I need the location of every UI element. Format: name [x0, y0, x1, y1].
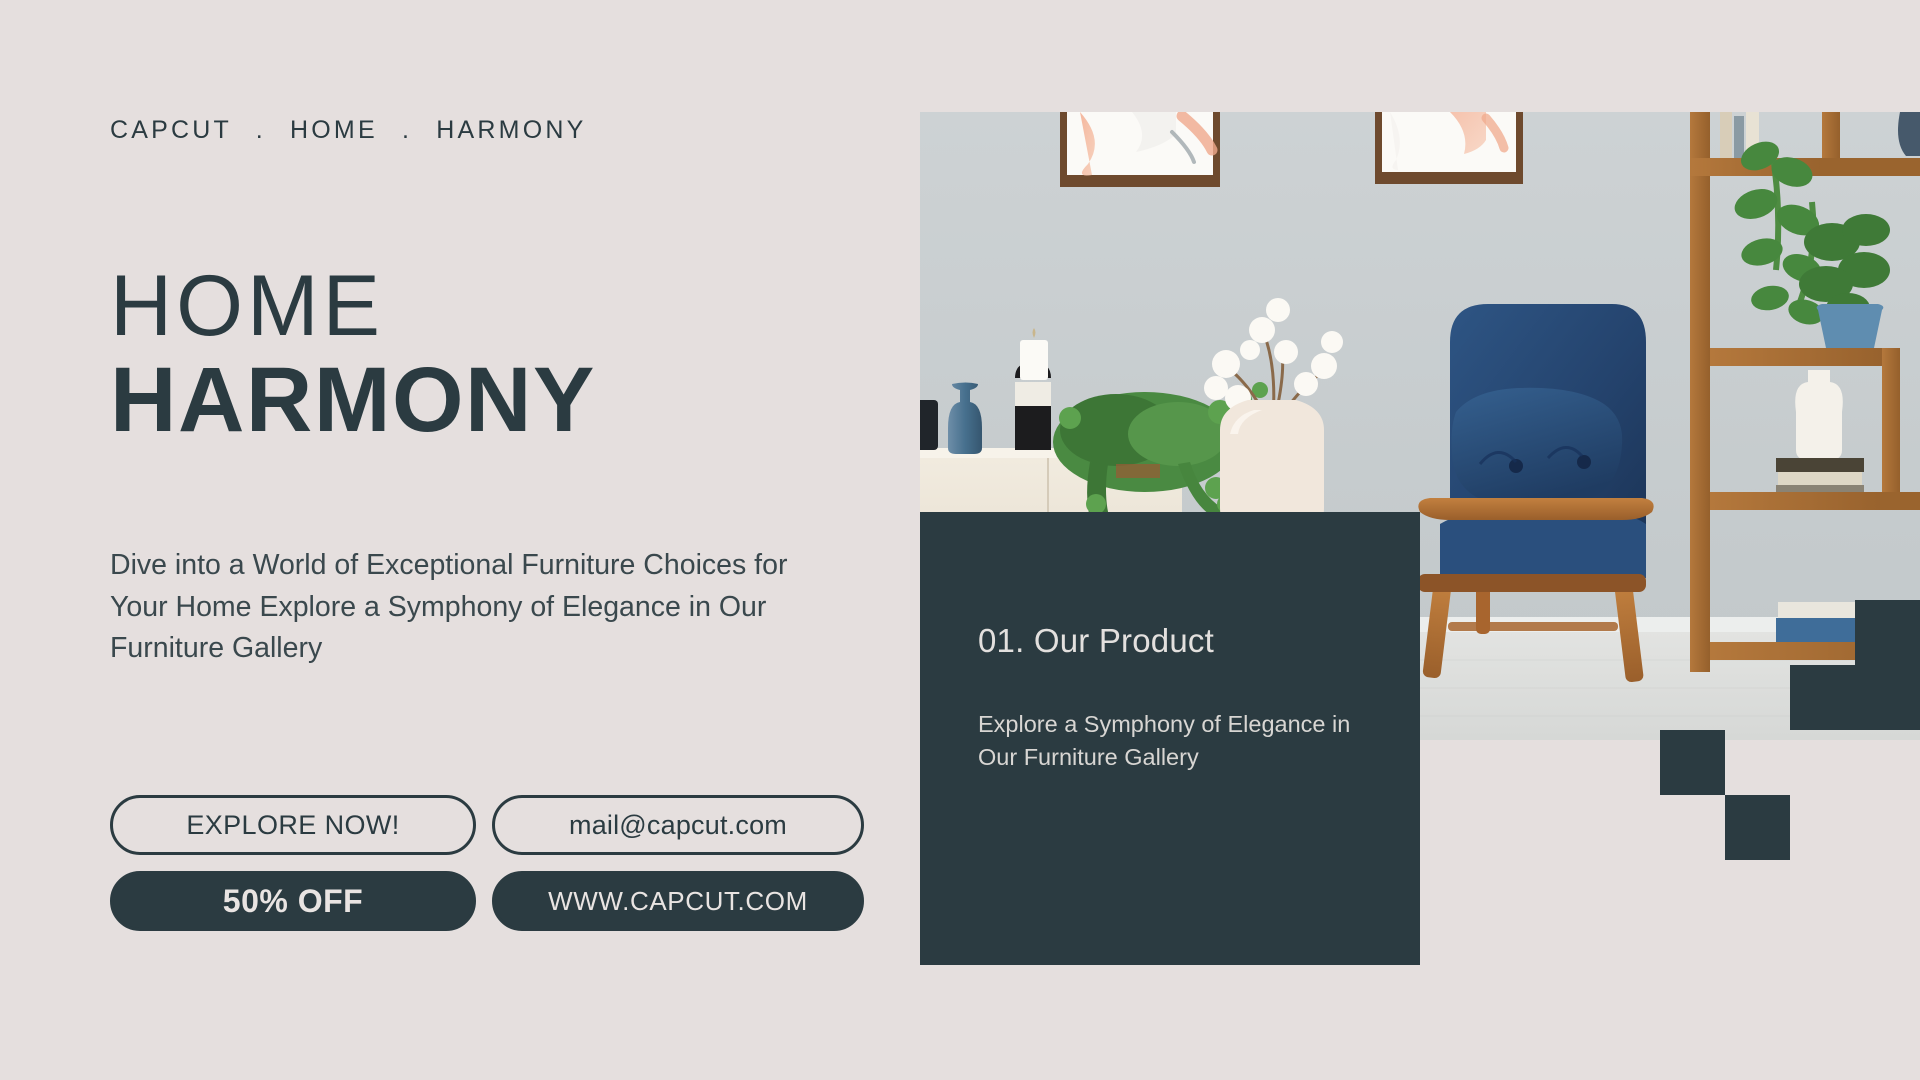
checkerboard-decoration: [1660, 665, 1920, 861]
deco-square: [1660, 730, 1725, 795]
page-title-line-1: HOME: [110, 265, 596, 348]
page-title-line-2: HARMONY: [110, 354, 596, 446]
deco-square: [1725, 795, 1790, 860]
deco-square: [1855, 665, 1920, 730]
breadcrumb: CAPCUT . HOME . HARMONY: [110, 116, 586, 145]
cta-button-group: EXPLORE NOW! mail@capcut.com 50% OFF WWW…: [110, 795, 864, 947]
breadcrumb-separator: .: [242, 116, 280, 144]
breadcrumb-separator: .: [388, 116, 426, 144]
left-content-column: CAPCUT . HOME . HARMONY HOME HARMONY Div…: [110, 0, 910, 1080]
breadcrumb-item-harmony[interactable]: HARMONY: [436, 116, 586, 144]
framed-art-right: [1375, 112, 1523, 184]
breadcrumb-item-home[interactable]: HOME: [290, 116, 378, 144]
cta-row-primary: EXPLORE NOW! mail@capcut.com: [110, 795, 864, 855]
deco-square: [1855, 600, 1920, 665]
product-info-panel: 01. Our Product Explore a Symphony of El…: [920, 512, 1420, 965]
panel-description: Explore a Symphony of Elegance in Our Fu…: [978, 708, 1368, 775]
intro-paragraph: Dive into a World of Exceptional Furnitu…: [110, 545, 850, 670]
page-title: HOME HARMONY: [110, 265, 596, 446]
website-button[interactable]: WWW.CAPCUT.COM: [492, 871, 864, 931]
email-button[interactable]: mail@capcut.com: [492, 795, 864, 855]
deco-square: [1790, 665, 1855, 730]
explore-now-button[interactable]: EXPLORE NOW!: [110, 795, 476, 855]
panel-title: 01. Our Product: [978, 622, 1214, 660]
cta-row-secondary: 50% OFF WWW.CAPCUT.COM: [110, 871, 864, 931]
framed-art-left: [1060, 112, 1220, 187]
breadcrumb-item-capcut[interactable]: CAPCUT: [110, 116, 232, 144]
discount-badge-button[interactable]: 50% OFF: [110, 871, 476, 931]
